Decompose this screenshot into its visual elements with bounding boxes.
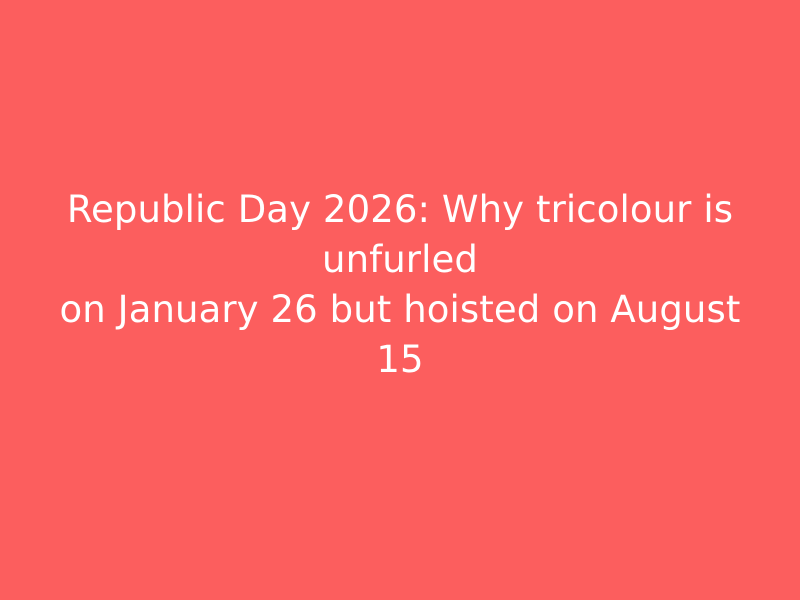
headline-line-1: Republic Day 2026: Why tricolour is unfu… — [67, 188, 733, 281]
headline-block: Republic Day 2026: Why tricolour is unfu… — [50, 185, 750, 415]
page-title: Republic Day 2026: Why tricolour is unfu… — [50, 185, 750, 385]
placeholder-card: Republic Day 2026: Why tricolour is unfu… — [0, 0, 800, 600]
headline-line-2: on January 26 but hoisted on August 15 — [60, 288, 741, 381]
